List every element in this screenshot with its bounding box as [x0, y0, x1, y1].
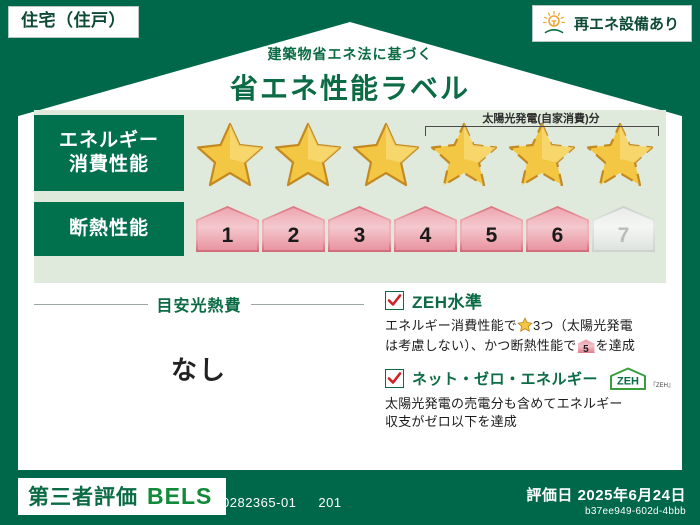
- zeh-logo: ZEH 『ZEH』: [608, 367, 674, 391]
- insulation-label-text: 断熱性能: [69, 217, 149, 241]
- unit-number: 201: [318, 495, 341, 510]
- zeh-desc-part2: 3つ（太陽光発電: [533, 318, 633, 333]
- house-grade-inline-icon: 5: [578, 339, 595, 353]
- certificate-numbers: 0282365-01 201: [222, 495, 342, 510]
- zeh-desc-part4: を達成: [596, 338, 636, 353]
- star-icon-inline: [517, 317, 533, 337]
- bels-logo-text: BELS: [147, 483, 212, 510]
- energy-label-line1: エネルギー: [59, 129, 159, 153]
- zeh-netzero-desc-line2: 収支がゼロ以下を達成: [385, 414, 517, 429]
- insulation-grade-badge: 5: [460, 206, 523, 252]
- insulation-grade-badge: 6: [526, 206, 589, 252]
- insulation-grade-badge: 2: [262, 206, 325, 252]
- star-icon: [191, 117, 269, 189]
- zeh-standard-name: ZEH水準: [412, 288, 483, 313]
- svg-text:ZEH: ZEH: [617, 375, 639, 387]
- zeh-desc-part3: は考慮しない）、かつ断熱性能で: [385, 338, 577, 353]
- renewable-label: 再エネ設備あり: [574, 13, 679, 34]
- solar-bracket: 太陽光発電(自家消費)分: [422, 112, 660, 138]
- certificate-number: 0282365-01: [222, 495, 296, 510]
- zeh-netzero-name: ネット・ゼロ・エネルギー: [412, 368, 598, 389]
- third-party-label: 第三者評価: [28, 481, 138, 511]
- checkbox-checked-icon[interactable]: [385, 369, 404, 388]
- zeh-netzero-description: 太陽光発電の売電分も含めてエネルギー 収支がゼロ以下を達成: [385, 395, 670, 432]
- utility-cost-value: なし: [34, 350, 364, 387]
- solar-bracket-line: [425, 126, 659, 136]
- insulation-label: 断熱性能: [34, 202, 184, 256]
- performance-panel: 太陽光発電(自家消費)分 エネルギー 消費性能: [34, 110, 666, 283]
- evaluation-date: 評価日 2025年6月24日: [526, 484, 686, 505]
- energy-label-line2: 消費性能: [69, 153, 149, 177]
- zeh-standard-title-row: ZEH水準: [385, 288, 670, 313]
- divider-left: [34, 304, 148, 305]
- zeh-criteria-block: ZEH水準 エネルギー消費性能で3つ（太陽光発電 は考慮しない）、かつ断熱性能で…: [385, 288, 670, 443]
- bels-certification-chip: 第三者評価 BELS: [18, 478, 226, 515]
- insulation-row: 断熱性能 1 2 3 4: [34, 202, 655, 256]
- insulation-grade-badge: 3: [328, 206, 391, 252]
- building-type-chip: 住宅（住戸）: [8, 6, 139, 38]
- zeh-desc-part1: エネルギー消費性能で: [385, 318, 517, 333]
- title-main: 省エネ性能ラベル: [0, 67, 700, 107]
- title-sub: 建築物省エネ法に基づく: [0, 44, 700, 64]
- insulation-grade-scale: 1 2 3 4 5: [196, 206, 655, 252]
- star-icon: [269, 117, 347, 189]
- insulation-grade-badge: 1: [196, 206, 259, 252]
- divider-right: [251, 304, 365, 305]
- evaluation-uuid: b37ee949-602d-4bbb: [526, 506, 686, 517]
- zeh-criterion-standard: ZEH水準 エネルギー消費性能で3つ（太陽光発電 は考慮しない）、かつ断熱性能で…: [385, 288, 670, 356]
- zeh-criterion-netzero: ネット・ゼロ・エネルギー ZEH 『ZEH』 太陽光発電の売電分も含めてエネルギ…: [385, 367, 670, 432]
- checkbox-checked-icon[interactable]: [385, 291, 404, 310]
- energy-label-root: 住宅（住戸） 再エネ設備あり 建築: [0, 0, 700, 525]
- footer: 第三者評価 BELS 0282365-01 201 評価日 2025年6月24日…: [0, 470, 700, 525]
- insulation-grade-badge-inactive: 7: [592, 206, 655, 252]
- sun-icon: [541, 10, 567, 36]
- renewable-energy-chip: 再エネ設備あり: [532, 5, 692, 42]
- page-title-block: 建築物省エネ法に基づく 省エネ性能ラベル: [0, 44, 700, 107]
- evaluation-info: 評価日 2025年6月24日 b37ee949-602d-4bbb: [526, 484, 686, 517]
- zeh-netzero-desc-line1: 太陽光発電の売電分も含めてエネルギー: [385, 396, 623, 411]
- solar-bracket-label: 太陽光発電(自家消費)分: [422, 110, 660, 126]
- zeh-netzero-title-row: ネット・ゼロ・エネルギー ZEH 『ZEH』: [385, 367, 670, 391]
- energy-performance-label: エネルギー 消費性能: [34, 115, 184, 191]
- building-type-label: 住宅（住戸）: [21, 11, 126, 30]
- utility-cost-block: 目安光熱費 なし: [34, 292, 364, 387]
- zeh-standard-description: エネルギー消費性能で3つ（太陽光発電 は考慮しない）、かつ断熱性能で5を達成: [385, 317, 670, 356]
- insulation-grade-badge: 4: [394, 206, 457, 252]
- zeh-logo-sub: 『ZEH』: [650, 380, 674, 389]
- utility-cost-header: 目安光熱費: [34, 292, 364, 316]
- star-icon: [347, 117, 425, 189]
- utility-cost-title: 目安光熱費: [157, 292, 242, 316]
